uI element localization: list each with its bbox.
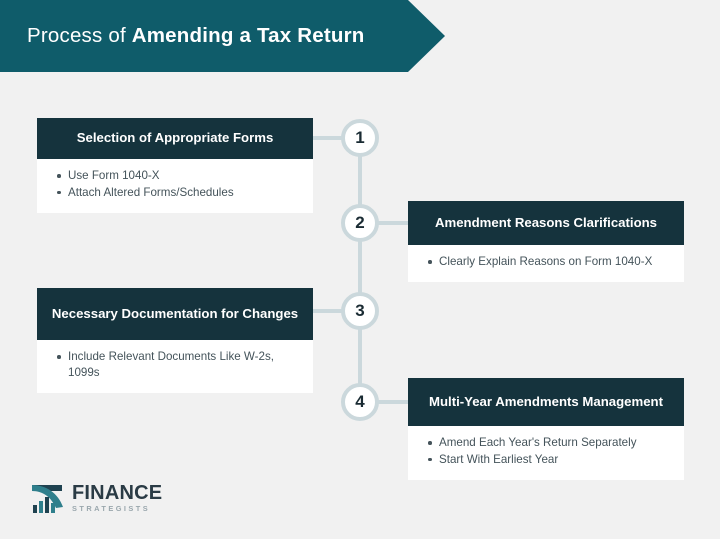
infographic-canvas: Process of Amending a Tax Return 1 2 3 4… [0,0,720,539]
step-number-circle-2: 2 [341,204,379,242]
step-card-1: Selection of Appropriate Forms Use Form … [37,118,313,213]
step-card-3-body: Include Relevant Documents Like W-2s, 10… [37,340,313,393]
page-title: Process of Amending a Tax Return [0,24,365,48]
logo-text-block: FINANCE STRATEGISTS [72,483,162,512]
timeline-spine [358,138,362,402]
page-title-bold: Amending a Tax Return [132,24,365,47]
list-item: Attach Altered Forms/Schedules [68,185,299,201]
step-card-3: Necessary Documentation for Changes Incl… [37,288,313,393]
step-number-circle-1: 1 [341,119,379,157]
step-card-3-bullet-list: Include Relevant Documents Like W-2s, 10… [51,349,299,381]
brand-logo: FINANCE STRATEGISTS [32,483,162,513]
list-item: Clearly Explain Reasons on Form 1040-X [439,254,670,270]
step-card-4-title: Multi-Year Amendments Management [408,378,684,426]
step-number-4: 4 [355,392,364,412]
step-card-4-bullet-list: Amend Each Year's Return Separately Star… [422,435,670,468]
list-item: Use Form 1040-X [68,168,299,184]
step-card-2-title: Amendment Reasons Clarifications [408,201,684,245]
list-item: Amend Each Year's Return Separately [439,435,670,451]
step-card-1-bullet-list: Use Form 1040-X Attach Altered Forms/Sch… [51,168,299,201]
list-item: Include Relevant Documents Like W-2s, 10… [68,349,299,381]
step-number-circle-3: 3 [341,292,379,330]
step-number-circle-4: 4 [341,383,379,421]
step-number-3: 3 [355,301,364,321]
step-card-1-title: Selection of Appropriate Forms [37,118,313,159]
finance-strategists-logo-icon [32,483,66,513]
header-banner: Process of Amending a Tax Return [0,0,445,72]
step-card-2: Amendment Reasons Clarifications Clearly… [408,201,684,282]
step-card-4-body: Amend Each Year's Return Separately Star… [408,426,684,480]
step-number-2: 2 [355,213,364,233]
step-card-2-bullet-list: Clearly Explain Reasons on Form 1040-X [422,254,670,270]
logo-subtitle: STRATEGISTS [72,505,162,512]
page-title-light: Process of [27,24,132,47]
step-card-4: Multi-Year Amendments Management Amend E… [408,378,684,480]
step-number-1: 1 [355,128,364,148]
logo-name: FINANCE [72,483,162,503]
step-card-1-body: Use Form 1040-X Attach Altered Forms/Sch… [37,159,313,213]
step-card-2-body: Clearly Explain Reasons on Form 1040-X [408,245,684,282]
step-card-3-title: Necessary Documentation for Changes [37,288,313,340]
list-item: Start With Earliest Year [439,452,670,468]
